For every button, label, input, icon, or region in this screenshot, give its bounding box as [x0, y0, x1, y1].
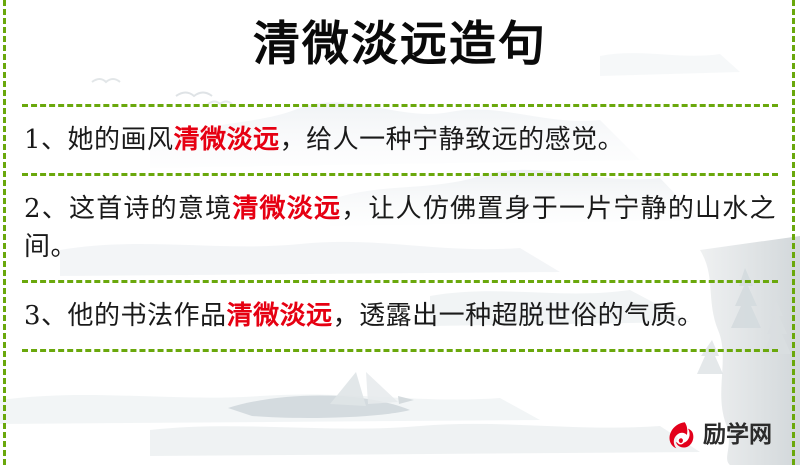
- watermark-brand-text: 励学网: [703, 424, 772, 447]
- sentence-before: 她的画风: [68, 125, 174, 155]
- list-item: 2、这首诗的意境清微淡远，让人仿佛置身于一片宁静的山水之间。: [22, 176, 778, 280]
- list-item: 3、他的书法作品清微淡远，透露出一种超脱世俗的气质。: [22, 283, 778, 349]
- sentence-index: 1、: [24, 125, 68, 155]
- sentence-list: 1、她的画风清微淡远，给人一种宁静致远的感觉。 2、这首诗的意境清微淡远，让人仿…: [22, 104, 778, 352]
- page-title: 清微淡远造句: [0, 18, 800, 72]
- border-rail-right: [792, 0, 795, 465]
- keyword-highlight: 清微淡远: [227, 301, 333, 331]
- page-title-text: 清微淡远造句: [253, 18, 547, 72]
- sentence-after: ，给人一种宁静致远的感觉。: [280, 125, 625, 155]
- sentence-index: 2、: [24, 194, 69, 224]
- watermark-logo: 励学网: [663, 418, 772, 452]
- divider-bottom: [22, 349, 778, 352]
- border-rail-left: [3, 0, 6, 465]
- sentence-index: 3、: [24, 301, 68, 331]
- keyword-highlight: 清微淡远: [232, 194, 341, 224]
- keyword-highlight: 清微淡远: [174, 125, 280, 155]
- list-item: 1、她的画风清微淡远，给人一种宁静致远的感觉。: [22, 107, 778, 173]
- sentence-before: 他的书法作品: [68, 301, 227, 331]
- sentence-before: 这首诗的意境: [69, 194, 232, 224]
- sentence-after: ，透露出一种超脱世俗的气质。: [333, 301, 704, 331]
- flame-swirl-logo-icon: [663, 418, 697, 452]
- poster-page: 清微淡远造句 1、她的画风清微淡远，给人一种宁静致远的感觉。 2、这首诗的意境清…: [0, 0, 800, 465]
